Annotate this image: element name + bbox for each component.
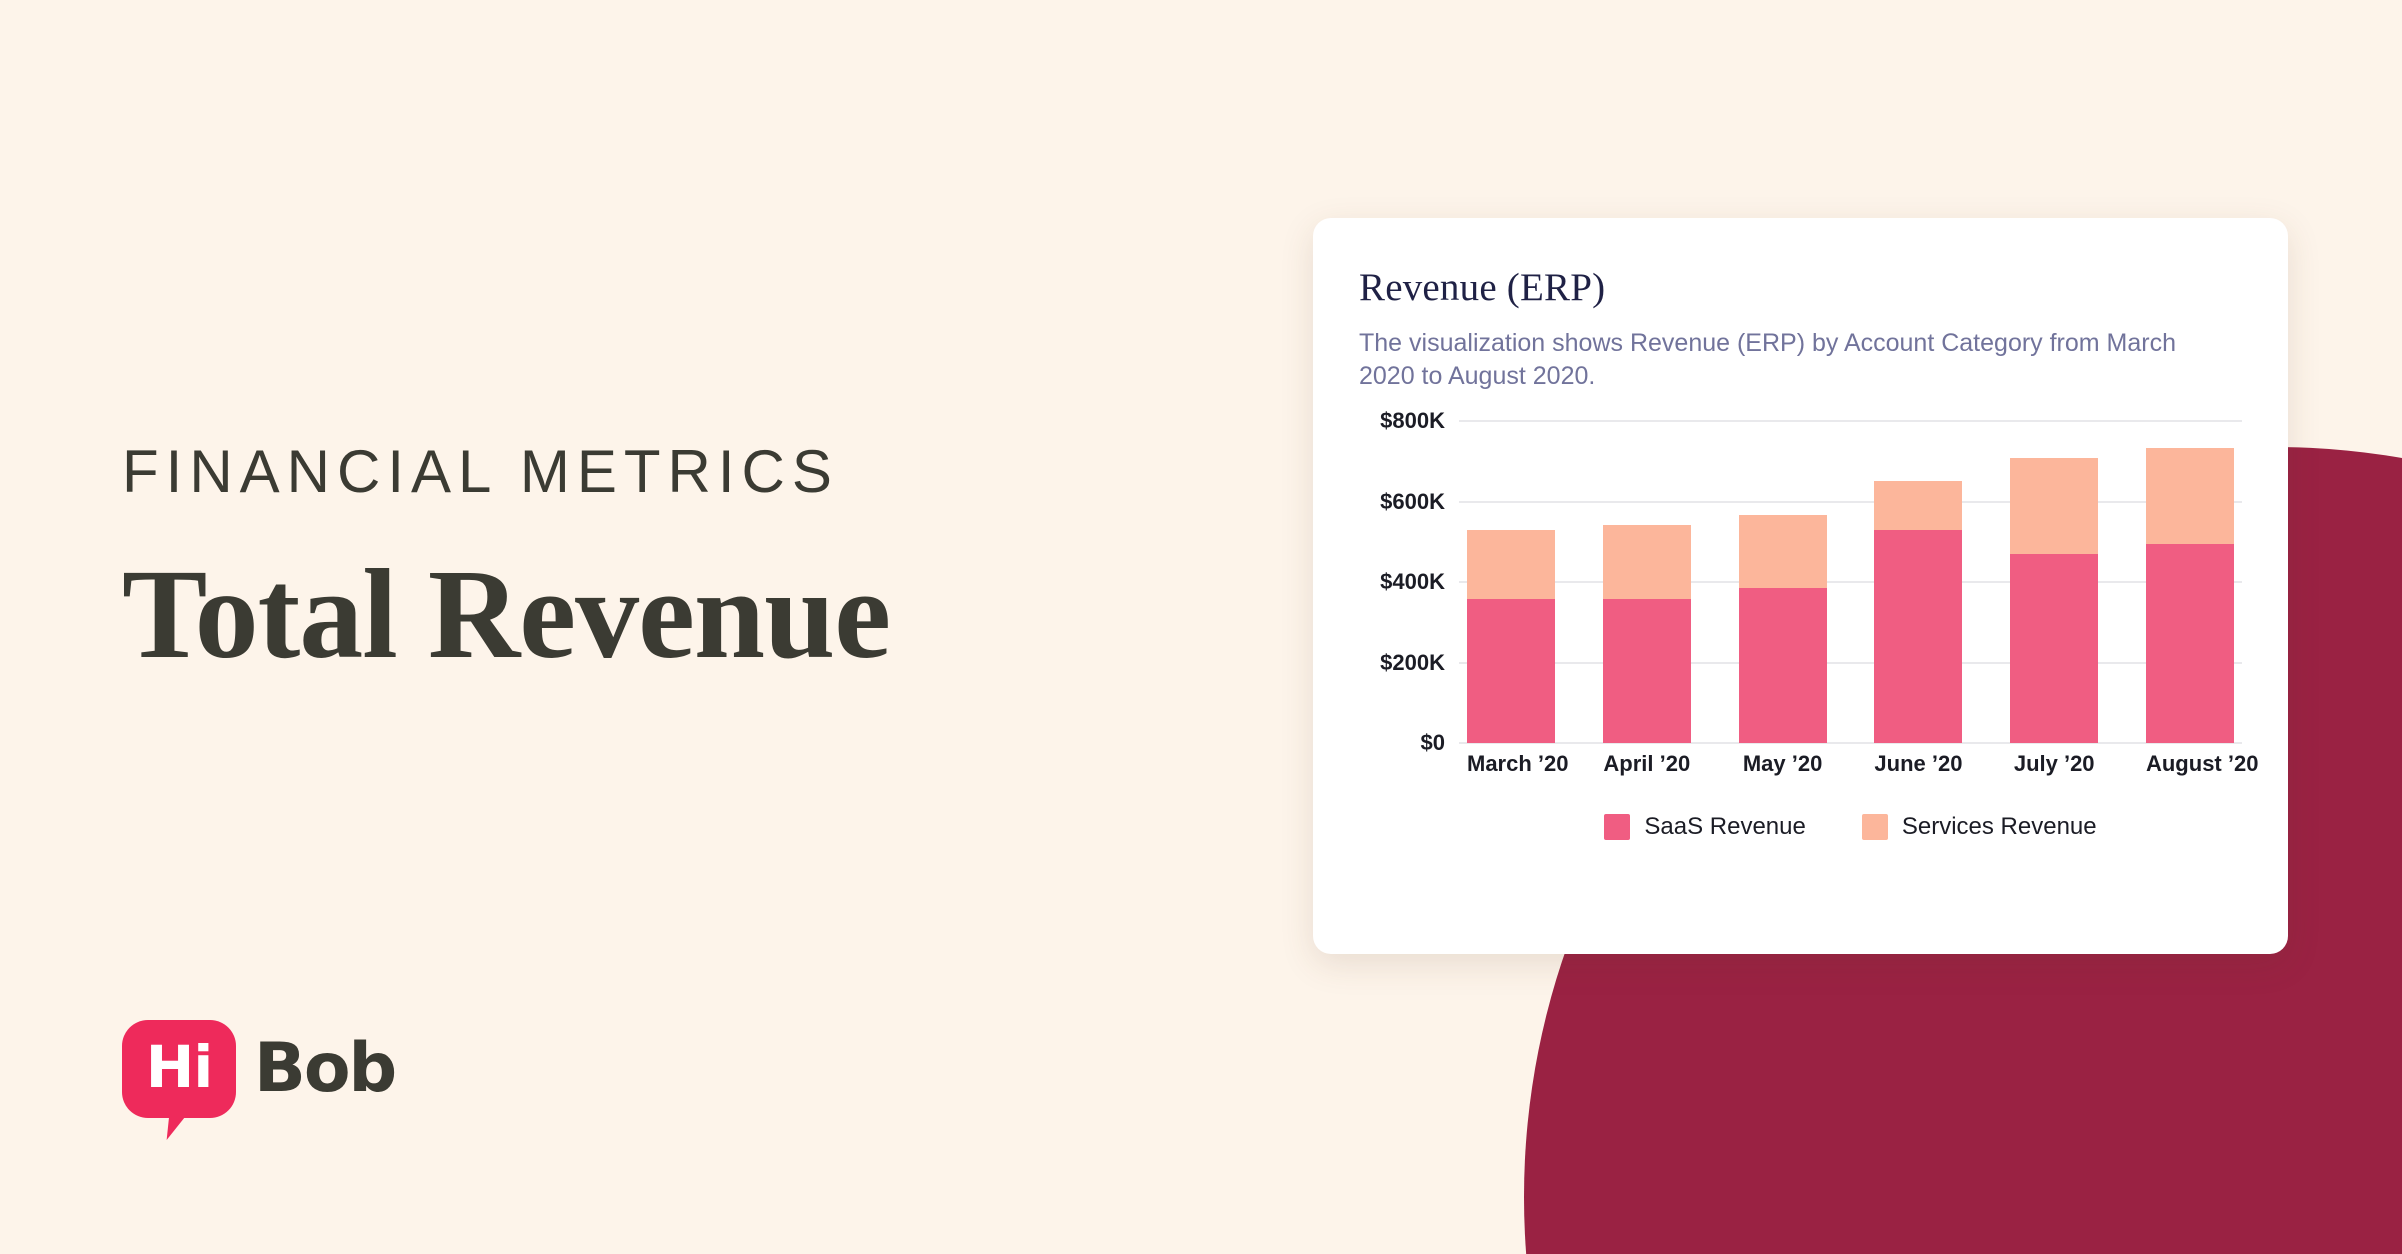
bar-segment-services-revenue[interactable] <box>1467 530 1555 599</box>
legend-item[interactable]: Services Revenue <box>1862 813 2097 841</box>
y-axis-tick: $400K <box>1380 569 1445 595</box>
x-axis: March ’20April ’20May ’20June ’20July ’2… <box>1459 751 2242 777</box>
x-axis-tick: July ’20 <box>2010 751 2098 777</box>
bar-group <box>1459 421 2242 743</box>
bar-column[interactable] <box>1739 421 1827 743</box>
bar-segment-saas-revenue[interactable] <box>1739 588 1827 744</box>
plot-area <box>1459 421 2242 743</box>
y-axis-tick: $600K <box>1380 489 1445 515</box>
legend-item[interactable]: SaaS Revenue <box>1604 813 1805 841</box>
chart-card: Revenue (ERP) The visualization shows Re… <box>1313 218 2288 954</box>
speech-bubble-icon: Hi <box>122 1020 236 1118</box>
bar-segment-services-revenue[interactable] <box>1874 481 1962 530</box>
chart-plot: $800K$600K$400K$200K$0 March ’20April ’2… <box>1359 421 2242 821</box>
bar-segment-saas-revenue[interactable] <box>1603 599 1691 743</box>
bar-column[interactable] <box>1467 421 1555 743</box>
page-title: Total Revenue <box>122 547 890 681</box>
bar-segment-services-revenue[interactable] <box>1739 515 1827 588</box>
eyebrow-label: FINANCIAL METRICS <box>122 440 890 505</box>
x-axis-tick: May ’20 <box>1739 751 1827 777</box>
poster-canvas: FINANCIAL METRICS Total Revenue Hi Bob R… <box>0 0 2402 1254</box>
y-axis-tick: $800K <box>1380 408 1445 434</box>
legend-label: SaaS Revenue <box>1644 813 1805 841</box>
legend-swatch <box>1862 814 1888 840</box>
logo-hi-text: Hi <box>146 1038 212 1096</box>
x-axis-tick: March ’20 <box>1467 751 1555 777</box>
headline-block: FINANCIAL METRICS Total Revenue <box>122 440 890 681</box>
bar-segment-services-revenue[interactable] <box>1603 525 1691 599</box>
y-axis-tick: $0 <box>1421 730 1445 756</box>
logo-wordmark: Bob <box>254 1035 395 1103</box>
bar-column[interactable] <box>2146 421 2234 743</box>
bar-segment-saas-revenue[interactable] <box>2146 544 2234 744</box>
hibob-logo: Hi Bob <box>122 1020 395 1118</box>
y-axis-tick: $200K <box>1380 650 1445 676</box>
chart-legend: SaaS RevenueServices Revenue <box>1459 813 2242 841</box>
legend-swatch <box>1604 814 1630 840</box>
legend-label: Services Revenue <box>1902 813 2097 841</box>
bar-segment-saas-revenue[interactable] <box>1874 530 1962 744</box>
bar-segment-services-revenue[interactable] <box>2146 448 2234 543</box>
bar-column[interactable] <box>1874 421 1962 743</box>
bar-segment-saas-revenue[interactable] <box>2010 554 2098 743</box>
bar-column[interactable] <box>2010 421 2098 743</box>
y-axis: $800K$600K$400K$200K$0 <box>1359 421 1445 743</box>
bar-segment-saas-revenue[interactable] <box>1467 599 1555 743</box>
bar-column[interactable] <box>1603 421 1691 743</box>
chart-subtitle: The visualization shows Revenue (ERP) by… <box>1359 327 2199 394</box>
bar-segment-services-revenue[interactable] <box>2010 458 2098 554</box>
chart-title: Revenue (ERP) <box>1359 266 2242 311</box>
x-axis-tick: August ’20 <box>2146 751 2234 777</box>
x-axis-tick: June ’20 <box>1874 751 1962 777</box>
x-axis-tick: April ’20 <box>1603 751 1691 777</box>
